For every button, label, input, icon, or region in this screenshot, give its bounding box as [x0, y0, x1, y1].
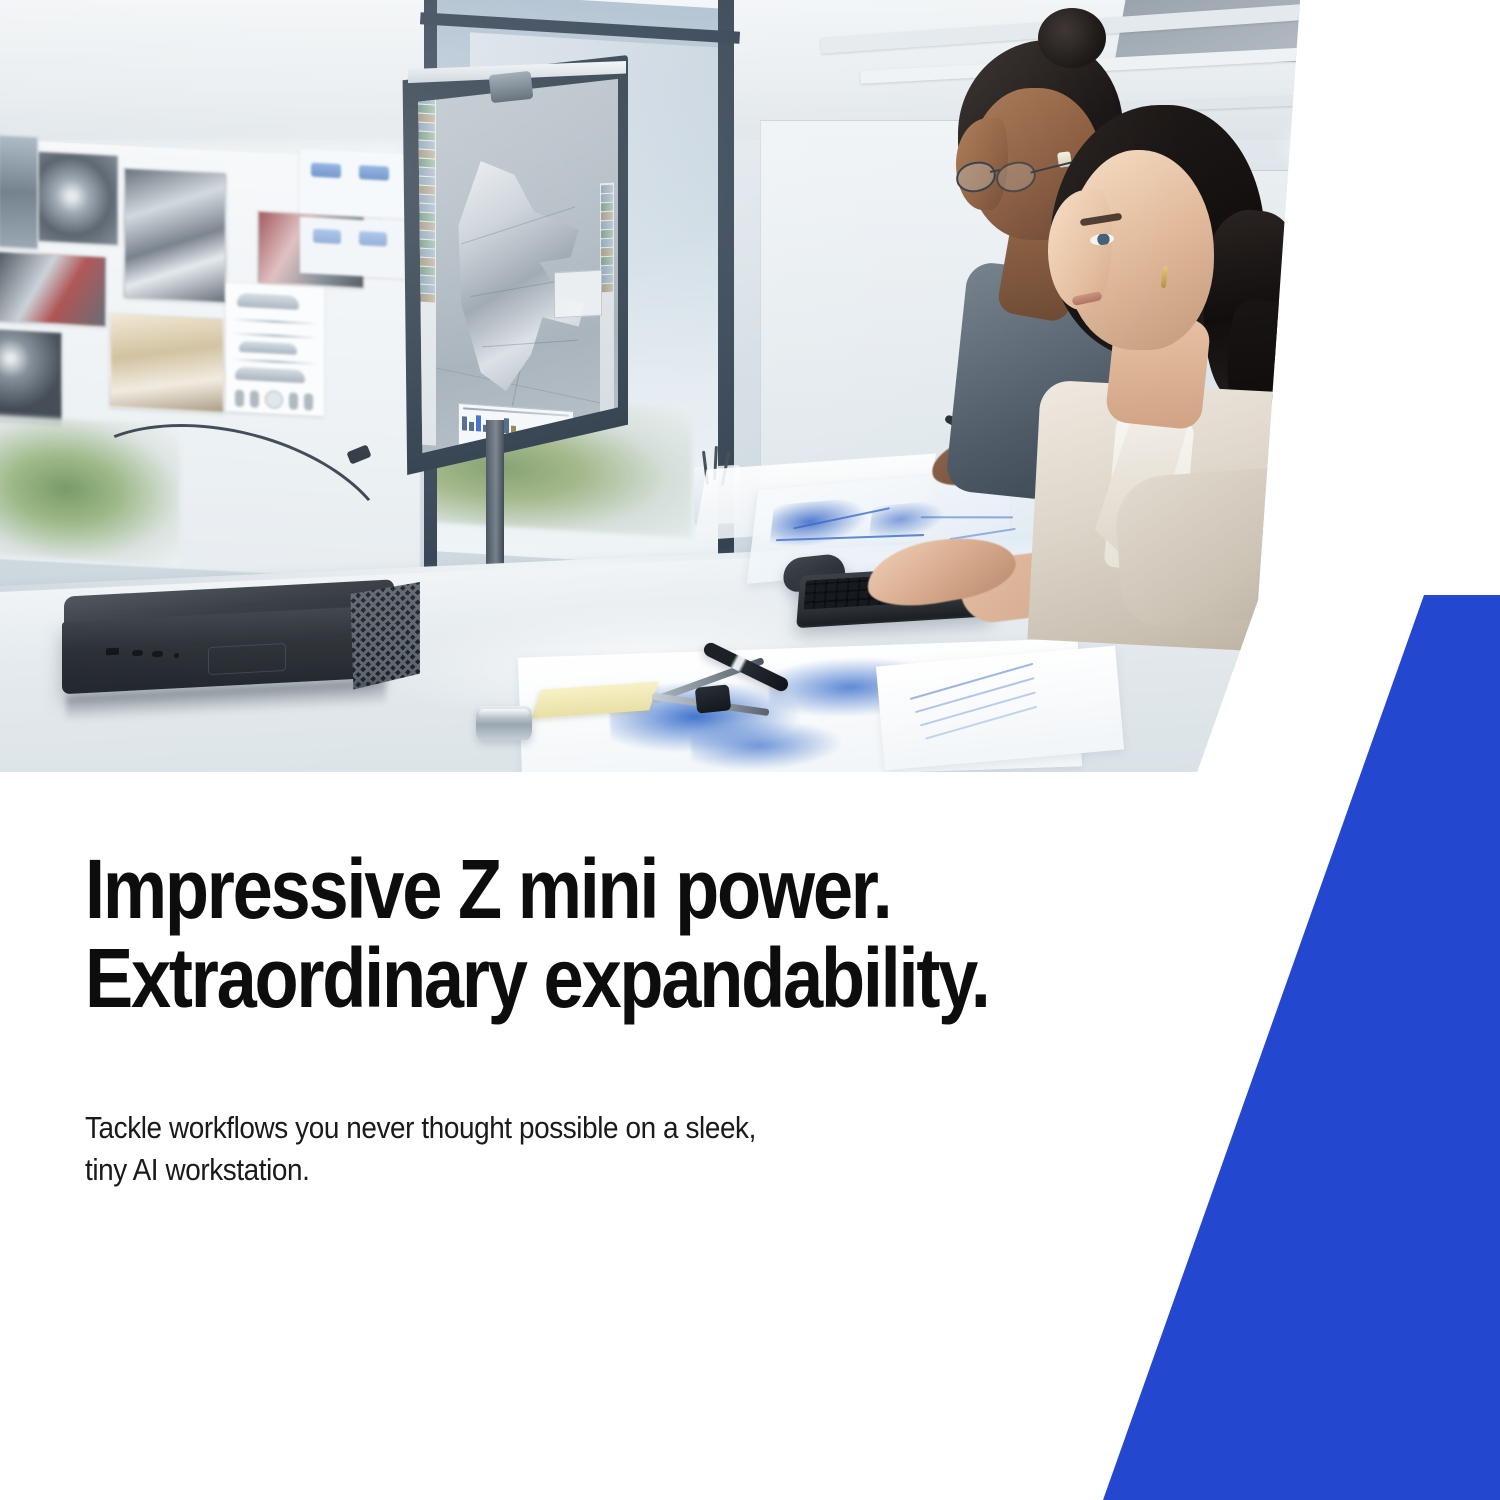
- photo-vignette: [0, 0, 1300, 775]
- subheadline: Tackle workflows you never thought possi…: [85, 1023, 1057, 1190]
- copy-block: Impressive Z mini power. Extraordinary e…: [85, 845, 1165, 1190]
- hero-photo: [0, 0, 1300, 775]
- page-title: Impressive Z mini power. Extraordinary e…: [85, 845, 1014, 1023]
- promo-canvas: Impressive Z mini power. Extraordinary e…: [0, 0, 1500, 1500]
